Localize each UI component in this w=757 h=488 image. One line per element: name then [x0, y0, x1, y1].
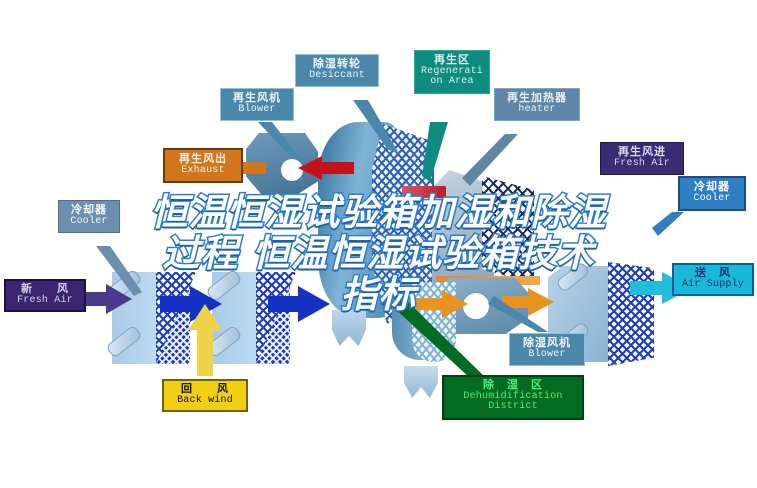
label-fresh-air-cn: 新 风	[9, 284, 81, 296]
label-regen-heater[interactable]: 再生加热器 heater	[494, 88, 580, 121]
label-desiccant-en: Desiccant	[298, 71, 376, 82]
label-desiccant-wheel[interactable]: 除湿转轮 Desiccant	[295, 54, 379, 87]
label-cooler-left[interactable]: 冷却器 Cooler	[58, 200, 120, 233]
regen-red-arrow	[298, 156, 354, 180]
label-dehum-blower-cn: 除湿风机	[512, 338, 582, 350]
label-fresh-air[interactable]: 新 风 Fresh Air	[4, 279, 86, 312]
back-wind-arrow	[188, 304, 222, 376]
label-cooler-l-en: Cooler	[61, 217, 117, 228]
label-regen-blower-en: Blower	[223, 105, 291, 116]
label-dehum-district[interactable]: 除 湿 区 Dehumidification District	[442, 375, 584, 420]
label-regen-air-in[interactable]: 再生风进 Fresh Air	[600, 142, 684, 175]
label-air-supply[interactable]: 送 风 Air Supply	[672, 263, 754, 296]
label-heater-en: heater	[497, 105, 577, 116]
label-fresh-air-en: Fresh Air	[9, 296, 81, 307]
label-heater-cn: 再生加热器	[497, 93, 577, 105]
label-dehum-blower-en: Blower	[512, 350, 582, 361]
rotor-drip-left	[332, 310, 366, 346]
fresh-air-arrow	[80, 284, 132, 314]
label-dehum-en2: District	[446, 402, 580, 413]
label-exhaust-en: Exhaust	[167, 166, 239, 177]
regen-duct-fitting	[402, 186, 446, 198]
label-regeneration-area[interactable]: 再生区 Regenerati on Area	[414, 50, 490, 94]
label-cooler-right[interactable]: 冷却器 Cooler	[678, 176, 746, 211]
label-regen-area-cn: 再生区	[417, 55, 487, 67]
process-arrow-2	[268, 286, 330, 322]
label-back-wind[interactable]: 回 风 Back wind	[162, 379, 248, 412]
label-regen-blower-cn: 再生风机	[223, 93, 291, 105]
label-air-supply-cn: 送 风	[676, 268, 750, 280]
label-dehum-blower[interactable]: 除湿风机 Blower	[509, 333, 585, 366]
label-exhaust-cn: 再生风出	[167, 154, 239, 166]
label-regen-in-cn: 再生风进	[603, 147, 681, 159]
label-regen-in-en: Fresh Air	[603, 159, 681, 170]
label-back-wind-cn: 回 风	[167, 384, 243, 396]
dehum-arrow-1	[416, 290, 468, 318]
label-regen-blower[interactable]: 再生风机 Blower	[220, 88, 294, 121]
dehum-arrow-2	[502, 288, 554, 316]
label-dehum-cn: 除 湿 区	[446, 380, 580, 392]
cooler-right-leader	[652, 212, 684, 236]
dehumidifier-process-diagram: 除湿转轮 Desiccant 再生风机 Blower 再生区 Regenerat…	[0, 0, 757, 488]
rotor-drip-bottom	[404, 366, 438, 398]
label-air-supply-en: Air Supply	[676, 280, 750, 291]
label-cooler-l-cn: 冷却器	[61, 205, 117, 217]
label-cooler-r-en: Cooler	[682, 194, 742, 205]
label-regen-air-out[interactable]: 再生风出 Exhaust	[163, 148, 243, 183]
label-regen-area-en2: on Area	[417, 77, 487, 88]
heater-unit	[432, 160, 542, 285]
label-cooler-r-cn: 冷却器	[682, 182, 742, 194]
label-desiccant-cn: 除湿转轮	[298, 59, 376, 71]
label-back-wind-en: Back wind	[167, 396, 243, 407]
